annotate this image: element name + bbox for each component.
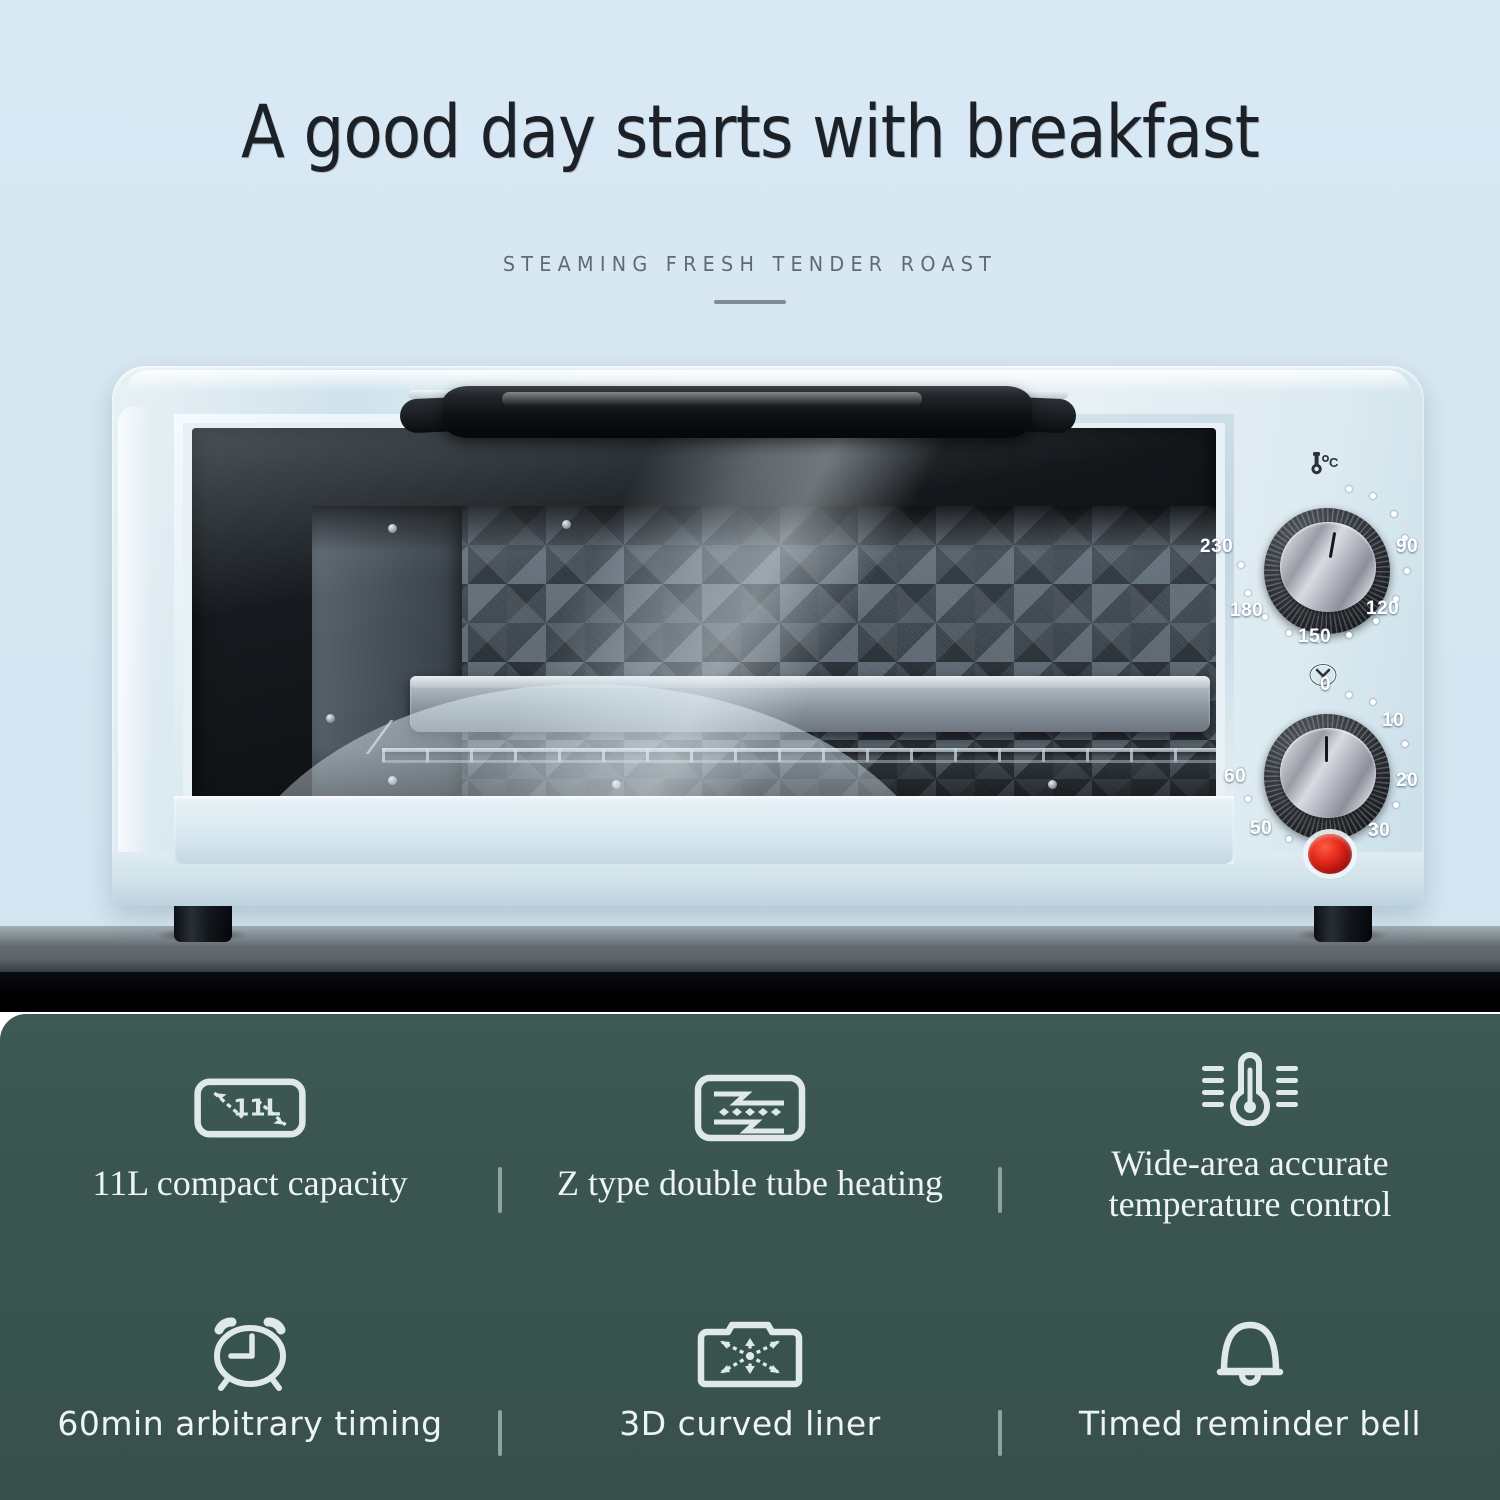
temperature-mark-90: 90 — [1396, 536, 1418, 558]
timer-mark-60: 60 — [1224, 766, 1246, 788]
dial-tick — [1346, 632, 1352, 638]
oven-door-lower-panel — [174, 796, 1234, 864]
dial-tick — [1245, 796, 1251, 802]
bell-icon — [1192, 1314, 1308, 1392]
dial-tick — [1393, 802, 1399, 808]
dial-tick — [1402, 741, 1408, 747]
features-grid: 11L 11L compact capacity — [0, 1014, 1500, 1500]
curved-liner-arrows-icon — [692, 1314, 808, 1392]
hero-section: A good day starts with breakfast STEAMIN… — [0, 0, 1500, 1012]
feature-temperature-control: Wide-area accurate temperature control — [1000, 1014, 1500, 1257]
feature-bell: Timed reminder bell — [1000, 1257, 1500, 1500]
feature-timing: 60min arbitrary timing — [0, 1257, 500, 1500]
svg-text:C: C — [1329, 455, 1339, 470]
svg-text:11L: 11L — [233, 1094, 281, 1122]
dial-tick — [1245, 590, 1251, 596]
countertop-edge — [0, 972, 1500, 1012]
z-heating-tube-icon — [692, 1069, 808, 1147]
feature-bell-label: Timed reminder bell — [1079, 1406, 1421, 1443]
features-panel: 11L 11L compact capacity — [0, 1014, 1500, 1500]
dial-tick — [1346, 692, 1352, 698]
dial-tick — [1346, 486, 1352, 492]
temperature-mark-120: 120 — [1366, 598, 1399, 620]
feature-timing-label: 60min arbitrary timing — [57, 1406, 442, 1443]
feature-temperature-control-label: Wide-area accurate temperature control — [1109, 1143, 1392, 1224]
temperature-mark-150: 150 — [1298, 626, 1331, 648]
timer-knob-pointer — [1325, 736, 1328, 762]
temperature-mark-230: 230 — [1200, 536, 1233, 558]
timer-mark-50: 50 — [1250, 818, 1272, 840]
dial-tick — [1238, 562, 1244, 568]
alarm-clock-icon — [192, 1314, 308, 1392]
title-divider — [714, 300, 786, 304]
feature-capacity: 11L 11L compact capacity — [0, 1014, 500, 1257]
dial-tick — [1370, 699, 1376, 705]
timer-mark-0: 0 — [1320, 674, 1331, 696]
timer-mark-20: 20 — [1396, 770, 1418, 792]
dial-tick — [1391, 511, 1397, 517]
product-marketing-image: A good day starts with breakfast STEAMIN… — [0, 0, 1500, 1500]
temperature-knob-face[interactable] — [1280, 522, 1376, 612]
timer-mark-10: 10 — [1382, 710, 1404, 732]
temperature-mark-180: 180 — [1230, 600, 1263, 622]
toaster-oven: C — [112, 366, 1424, 936]
temperature-knob[interactable]: 230 180 150 120 90 — [1236, 480, 1418, 662]
dial-tick — [1286, 836, 1292, 842]
feature-liner: 3D curved liner — [500, 1257, 1000, 1500]
thermometer-wide-icon — [1192, 1049, 1308, 1127]
handle-gloss — [502, 392, 922, 406]
timer-mark-30: 30 — [1368, 820, 1390, 842]
feature-capacity-label: 11L compact capacity — [92, 1163, 407, 1203]
oven-left-highlight — [118, 406, 152, 876]
dial-tick — [1404, 568, 1410, 574]
page-subtitle: STEAMING FRESH TENDER ROAST — [30, 252, 1470, 276]
capacity-box-icon: 11L — [192, 1069, 308, 1147]
dial-tick — [1286, 630, 1292, 636]
thermometer-celsius-icon: C — [1306, 450, 1352, 480]
feature-heating-label: Z type double tube heating — [557, 1163, 943, 1203]
dial-tick — [1370, 493, 1376, 499]
timer-knob-face[interactable] — [1280, 728, 1376, 818]
page-title: A good day starts with breakfast — [90, 96, 1410, 169]
control-panel: C — [1234, 414, 1424, 866]
power-indicator-lamp — [1308, 834, 1352, 874]
feature-liner-label: 3D curved liner — [619, 1406, 880, 1443]
feature-heating: Z type double tube heating — [500, 1014, 1000, 1257]
